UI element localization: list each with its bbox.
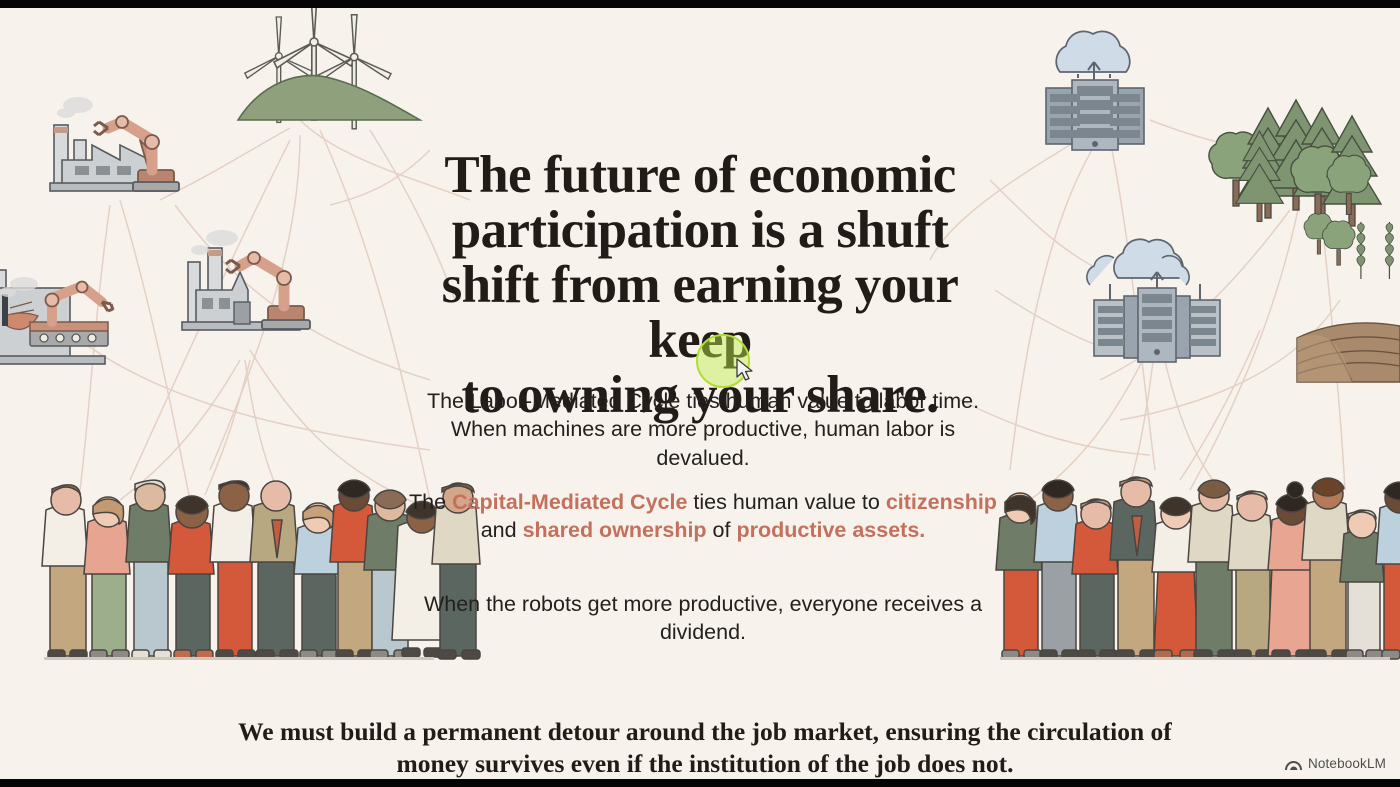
crowd-of-people-right (996, 477, 1400, 660)
paragraph-robot-dividend: When the robots get more productive, eve… (408, 590, 998, 647)
farmland-fields (1297, 213, 1400, 382)
cloud-server-upper (1046, 31, 1144, 150)
page-title: The future of economic participation is … (390, 148, 1010, 424)
notebooklm-watermark: NotebookLM (1285, 756, 1386, 771)
segment-ties-human-value-to: ties human value to (687, 490, 885, 514)
factory-with-robot-arm-edge (0, 270, 113, 364)
wind-turbines-on-hill (238, 0, 420, 129)
mouse-cursor-icon (736, 358, 756, 384)
segment-productive-assets: productive assets. (736, 518, 925, 542)
factory-with-robot-arm-lower (182, 230, 310, 330)
segment-and: and (481, 518, 523, 542)
letterbox-top (0, 0, 1400, 8)
segment-shared-ownership: shared ownership (523, 518, 707, 542)
segment-capital-mediated-cycle: Capital-Mediated Cycle (452, 490, 687, 514)
headline-line-1: The future of economic (444, 146, 955, 204)
notebooklm-arc-icon (1285, 756, 1302, 771)
factory-with-robot-arm-upper (50, 97, 179, 191)
forest-of-trees (1209, 100, 1381, 226)
footer-statement: We must build a permanent detour around … (230, 716, 1180, 781)
slide-canvas: The future of economic participation is … (0, 0, 1400, 787)
segment-the: The (409, 490, 452, 514)
headline-line-2: participation is a shuft (452, 201, 949, 259)
cloud-server-lower (1087, 239, 1220, 362)
notebooklm-label: NotebookLM (1308, 756, 1386, 771)
segment-citizenship: citizenship (886, 490, 997, 514)
segment-of: of (707, 518, 737, 542)
paragraph-labor-mediated-cycle: The Labor-Mediated Cycle ties human valu… (408, 387, 998, 473)
letterbox-bottom (0, 779, 1400, 787)
paragraph-capital-mediated-cycle: The Capital-Mediated Cycle ties human va… (408, 488, 998, 545)
